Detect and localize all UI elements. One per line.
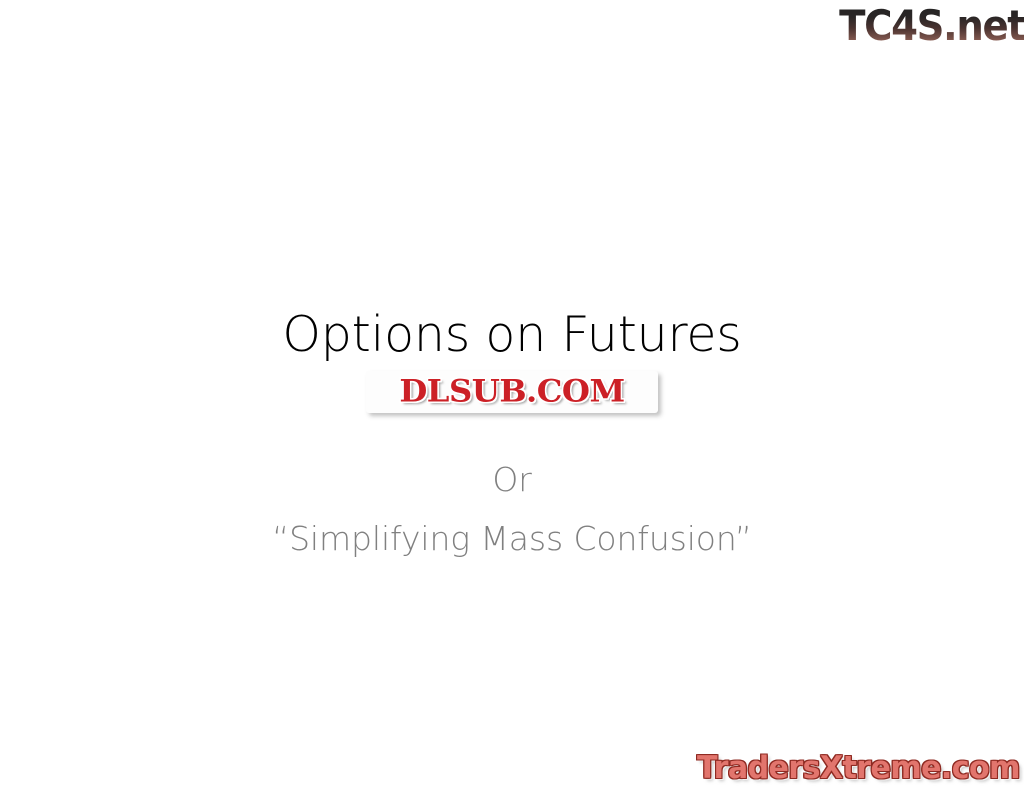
title-block: Options on Futures xyxy=(0,306,1024,364)
dlsub-com-watermark-plate: DLSUB.COM xyxy=(366,371,658,413)
page-title: Options on Futures xyxy=(282,306,741,364)
dlsub-com-watermark-text: DLSUB.COM xyxy=(399,376,624,409)
subtitle-line-quote: “Simplifying Mass Confusion” xyxy=(0,514,1024,563)
presentation-slide: TC4S.net Options on Futures DLSUB.COM Or… xyxy=(0,0,1024,791)
tradersxtreme-com-watermark-logo: TradersXtreme.com xyxy=(697,751,1020,785)
subtitle-block: Or “Simplifying Mass Confusion” xyxy=(0,455,1024,563)
subtitle-line-or: Or xyxy=(0,455,1024,504)
tc4s-net-watermark-logo: TC4S.net xyxy=(839,4,1024,48)
